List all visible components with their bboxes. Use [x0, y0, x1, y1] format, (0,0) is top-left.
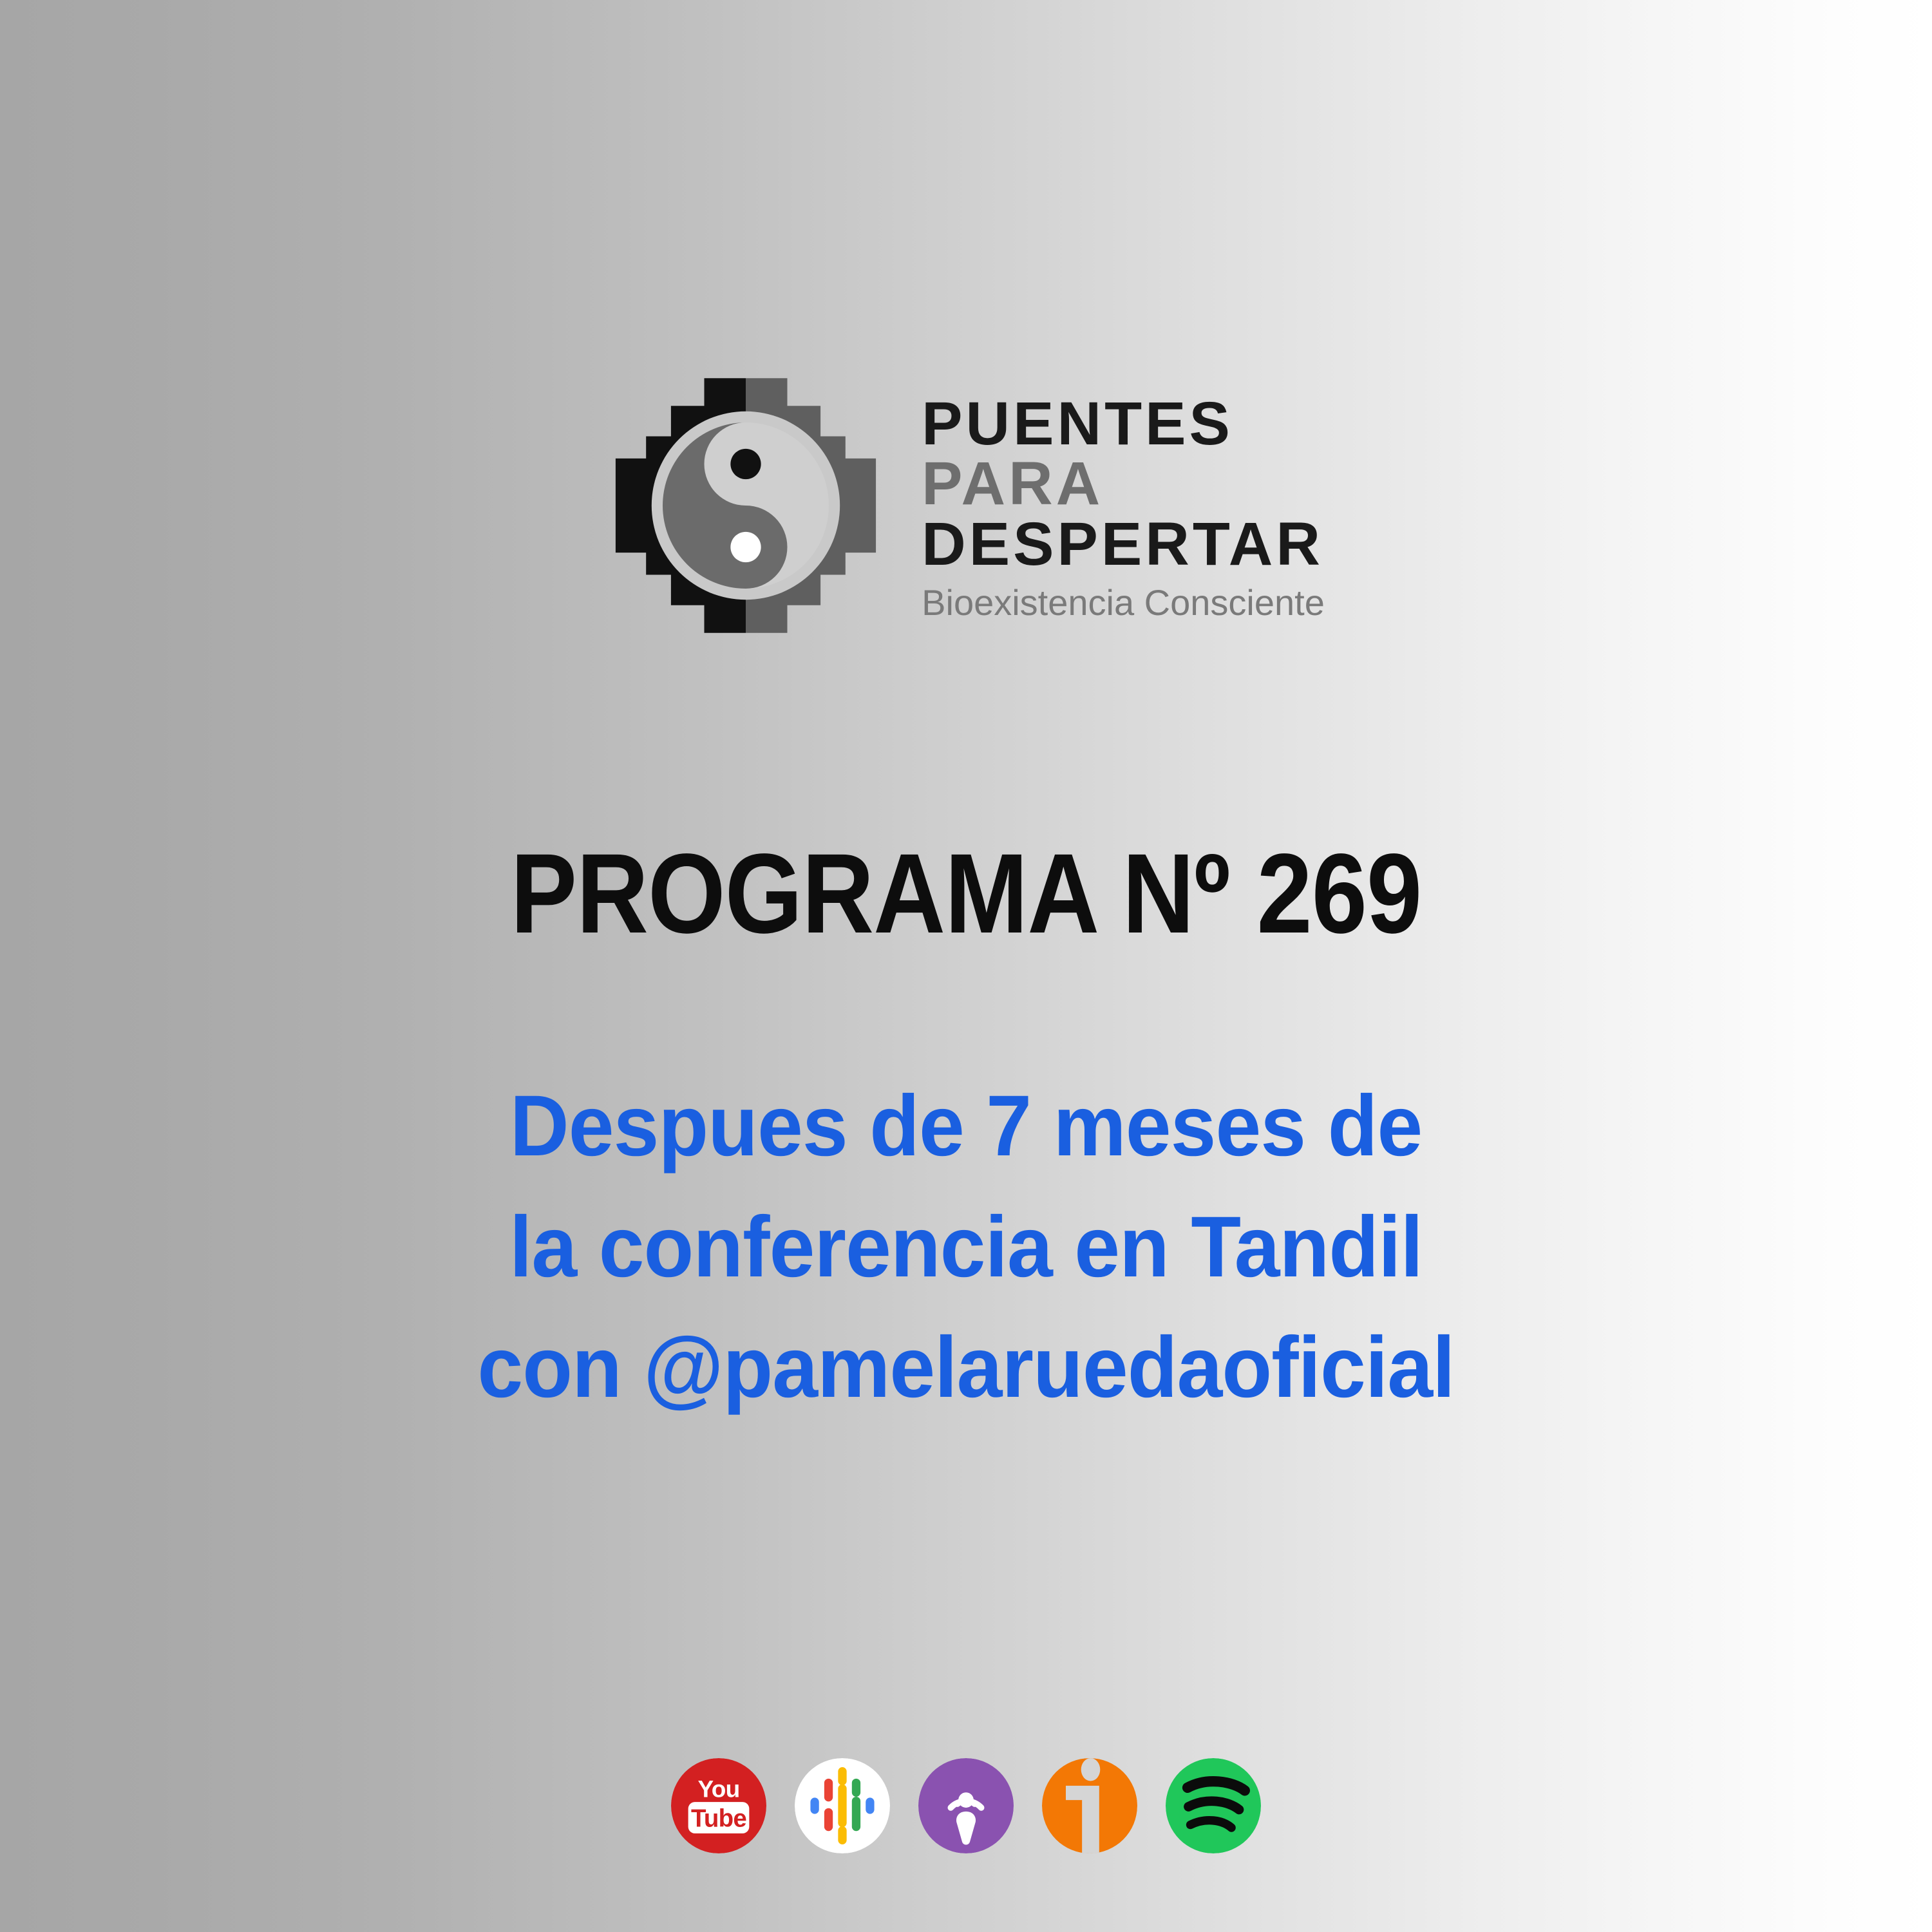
episode-subtitle: Despues de 7 meses de la conferencia en … [0, 1066, 1932, 1428]
brand-wordmark: PUENTES PARA DESPERTAR Bioexistencia Con… [922, 390, 1325, 620]
brand-line-puentes: PUENTES [922, 394, 1325, 454]
youtube-icon[interactable]: You Tube [671, 1758, 766, 1853]
svg-text:You: You [698, 1776, 740, 1803]
brand-line-despertar: DESPERTAR [922, 515, 1325, 574]
brand-tagline: Bioexistencia Consciente [922, 585, 1325, 621]
ivoox-icon[interactable] [1042, 1758, 1137, 1853]
brand-line-para: PARA [922, 454, 1325, 514]
episode-subtitle-line-2: la conferencia en Tandil [48, 1187, 1884, 1308]
program-title: PROGRAMA Nº 269 [116, 837, 1816, 951]
podcast-episode-poster: PUENTES PARA DESPERTAR Bioexistencia Con… [0, 0, 1932, 1932]
episode-subtitle-line-3: con @pamelaruedaoficial [48, 1307, 1884, 1428]
brand-logo-block: PUENTES PARA DESPERTAR Bioexistencia Con… [0, 367, 1932, 644]
apple-podcasts-icon[interactable] [918, 1758, 1014, 1853]
google-podcasts-icon[interactable] [795, 1758, 890, 1853]
platform-icons-row: You Tube [0, 1758, 1932, 1853]
svg-text:Tube: Tube [691, 1805, 746, 1833]
episode-subtitle-line-1: Despues de 7 meses de [48, 1066, 1884, 1187]
spotify-icon[interactable] [1166, 1758, 1261, 1853]
puentes-para-despertar-yinyang-chakana-logo-icon [607, 367, 884, 644]
